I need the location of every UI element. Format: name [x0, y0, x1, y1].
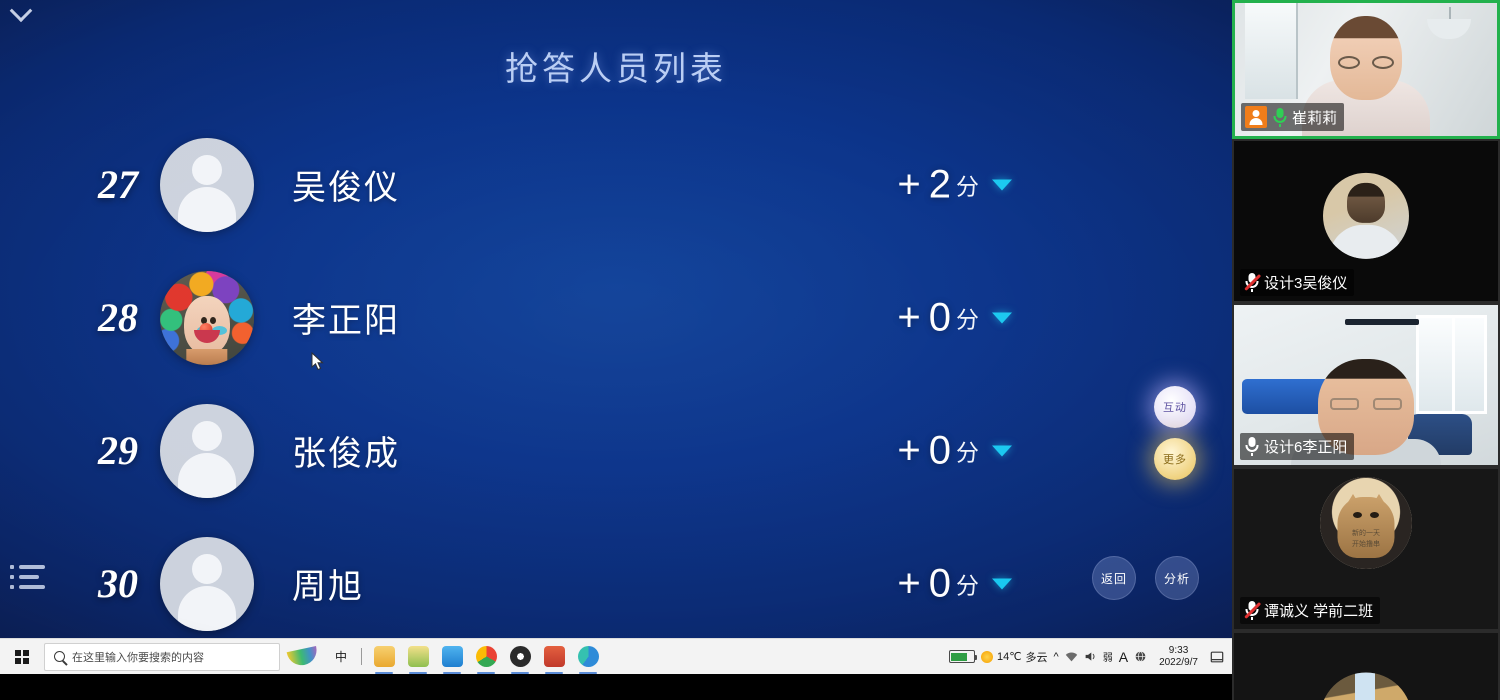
list-item[interactable]: 28 李正阳 + 0 分: [0, 251, 1140, 384]
taskbar-icon-edge[interactable]: [571, 639, 605, 675]
sun-icon: [981, 651, 993, 663]
list-menu-icon[interactable]: [6, 556, 48, 598]
score-unit: 分: [956, 301, 979, 335]
score-value: 0: [929, 428, 950, 473]
video-tile-host[interactable]: 崔莉莉: [1232, 0, 1500, 139]
score-value: 2: [929, 162, 950, 207]
score-sign: +: [897, 561, 919, 606]
host-badge-icon: [1245, 106, 1267, 128]
participant-rank: 29: [0, 427, 160, 474]
clock-date: 2022/9/7: [1159, 657, 1198, 669]
system-tray: 14℃ 多云 ^ 弱 A 9:33 2022/9/7: [949, 645, 1232, 669]
tile-label: 谭诚义 学前二班: [1240, 597, 1380, 624]
clown-face: [184, 296, 229, 354]
chevron-down-icon[interactable]: [992, 312, 1012, 323]
score-unit: 分: [956, 434, 979, 468]
taskbar-icon-chrome[interactable]: [469, 639, 503, 675]
chevron-down-icon[interactable]: [992, 445, 1012, 456]
participant-name: 崔莉莉: [1292, 107, 1337, 128]
avatar[interactable]: [160, 404, 254, 498]
mic-muted-icon[interactable]: [1244, 601, 1259, 620]
search-icon: [54, 651, 65, 662]
tile-label: 设计3吴俊仪: [1240, 269, 1354, 296]
participant-name: 谭诚义 学前二班: [1264, 600, 1373, 621]
avatar[interactable]: [160, 271, 254, 365]
ime-indicator[interactable]: 中: [326, 648, 356, 665]
video-tile[interactable]: 新的一天 开始撸串 谭诚义 学前二班: [1232, 467, 1500, 631]
search-input[interactable]: 在这里输入你要搜索的内容: [44, 643, 280, 671]
cortana-icon[interactable]: [280, 639, 326, 675]
score-unit: 分: [956, 168, 979, 202]
participant-name: 吴俊仪: [292, 160, 400, 209]
avatar: 新的一天 开始撸串: [1320, 477, 1412, 569]
chevron-down-icon[interactable]: [992, 578, 1012, 589]
video-feed: [1234, 633, 1498, 700]
video-tile-partial[interactable]: [1232, 631, 1500, 700]
chevron-down-icon[interactable]: [992, 179, 1012, 190]
avatar-caption-line2: 开始撸串: [1320, 540, 1412, 549]
tray-chevron-up-icon[interactable]: ^: [1054, 651, 1059, 663]
clown-eye-right: [210, 317, 216, 324]
video-tile[interactable]: 设计3吴俊仪: [1232, 139, 1500, 303]
participant-name: 张俊成: [292, 426, 400, 475]
participant-name: 设计6李正阳: [1264, 436, 1347, 457]
screen-root: 抢答人员列表 27 吴俊仪 + 2 分 28: [0, 0, 1500, 700]
more-button[interactable]: 更多: [1154, 438, 1196, 480]
avatar[interactable]: [160, 537, 254, 631]
network-icon[interactable]: [1065, 650, 1078, 663]
mic-unmuted-icon[interactable]: [1272, 108, 1287, 127]
battery-icon[interactable]: [949, 650, 975, 663]
score-unit: 分: [956, 567, 979, 601]
participant-list: 27 吴俊仪 + 2 分 28: [0, 118, 1140, 638]
mouse-cursor: [310, 352, 326, 372]
list-item[interactable]: 27 吴俊仪 + 2 分: [0, 118, 1140, 251]
participant-rank: 27: [0, 161, 160, 208]
taskbar-icon-picture-viewer[interactable]: [435, 639, 469, 675]
windows-taskbar: 在这里输入你要搜索的内容 中 14℃ 多云 ^ 弱 A 9:33: [0, 638, 1232, 674]
analyze-button[interactable]: 分析: [1155, 556, 1199, 600]
mic-muted-icon[interactable]: [1244, 273, 1259, 292]
score-control[interactable]: + 0 分: [897, 295, 1012, 340]
chevron-down-icon[interactable]: [0, 0, 42, 30]
volume-icon[interactable]: [1084, 650, 1097, 663]
clown-neck: [186, 349, 227, 364]
interact-button[interactable]: 互动: [1154, 386, 1196, 428]
clown-mouth: [194, 330, 220, 343]
page-title: 抢答人员列表: [0, 42, 1232, 90]
score-sign: +: [897, 428, 919, 473]
participant-name: 设计3吴俊仪: [1264, 272, 1347, 293]
video-sidebar: 崔莉莉 设计3吴俊仪 设计6李正阳: [1232, 0, 1500, 700]
globe-icon[interactable]: [1134, 650, 1147, 663]
list-item[interactable]: 30 周旭 + 0 分: [0, 517, 1140, 638]
avatar[interactable]: [160, 138, 254, 232]
participant-name: 李正阳: [292, 293, 400, 342]
taskbar-icon-powerpoint[interactable]: [537, 639, 571, 675]
participant-rank: 28: [0, 294, 160, 341]
notification-icon[interactable]: [1210, 650, 1224, 664]
score-control[interactable]: + 2 分: [897, 162, 1012, 207]
video-tile[interactable]: 设计6李正阳: [1232, 303, 1500, 467]
mic-unmuted-icon[interactable]: [1244, 437, 1259, 456]
score-sign: +: [897, 162, 919, 207]
search-placeholder: 在这里输入你要搜索的内容: [72, 649, 204, 665]
weather-desc: 多云: [1026, 649, 1048, 665]
avatar-caption-line1: 新的一天: [1320, 529, 1412, 538]
score-sign: +: [897, 295, 919, 340]
participant-name: 周旭: [292, 559, 364, 608]
score-control[interactable]: + 0 分: [897, 428, 1012, 473]
score-value: 0: [929, 561, 950, 606]
presentation-stage: 抢答人员列表 27 吴俊仪 + 2 分 28: [0, 0, 1232, 638]
taskbar-clock[interactable]: 9:33 2022/9/7: [1153, 645, 1204, 669]
taskbar-icon-photos[interactable]: [401, 639, 435, 675]
list-item[interactable]: 29 张俊成 + 0 分: [0, 384, 1140, 517]
tile-label: 崔莉莉: [1241, 103, 1344, 131]
score-control[interactable]: + 0 分: [897, 561, 1012, 606]
ime-letter[interactable]: A: [1119, 649, 1128, 665]
signal-label: 弱: [1103, 649, 1113, 664]
windows-start-icon[interactable]: [0, 639, 44, 675]
taskbar-icon-file-explorer[interactable]: [367, 639, 401, 675]
divider: [361, 648, 362, 665]
score-value: 0: [929, 295, 950, 340]
clock-time: 9:33: [1159, 645, 1198, 657]
taskbar-icon-opera[interactable]: [503, 639, 537, 675]
weather-widget[interactable]: 14℃ 多云: [981, 649, 1048, 665]
tile-label: 设计6李正阳: [1240, 433, 1354, 460]
weather-temp: 14℃: [997, 650, 1022, 663]
back-button[interactable]: 返回: [1092, 556, 1136, 600]
